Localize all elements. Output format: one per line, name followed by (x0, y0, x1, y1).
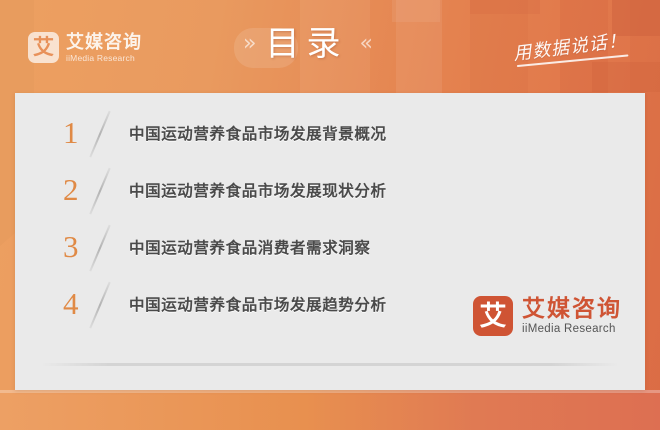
panel-divider (41, 363, 619, 366)
chevron-right-icon: » (243, 33, 253, 55)
footer-logo-name-cn: 艾媒咨询 (522, 297, 622, 320)
item-label: 中国运动营养食品市场发展背景概况 (129, 122, 387, 144)
item-number: 2 (63, 174, 85, 205)
contents-panel: 1 中国运动营养食品市场发展背景概况 2 中国运动营养食品市场发展现状分析 3 … (15, 93, 645, 390)
header-logo: 艾 艾媒咨询 iiMedia Research (28, 32, 142, 63)
item-label: 中国运动营养食品市场发展现状分析 (129, 179, 387, 201)
slash-divider-icon (85, 107, 125, 159)
header-logo-name-cn: 艾媒咨询 (66, 33, 142, 51)
list-item[interactable]: 2 中国运动营养食品市场发展现状分析 (15, 161, 645, 218)
list-item[interactable]: 1 中国运动营养食品市场发展背景概况 (15, 104, 645, 161)
item-number: 3 (63, 231, 85, 262)
footer-logo: 艾 艾媒咨询 iiMedia Research (473, 296, 622, 336)
footer-logo-text: 艾媒咨询 iiMedia Research (522, 297, 622, 336)
tagline: 用数据说话！ (512, 26, 629, 69)
bg-block-1 (392, 0, 440, 22)
item-label: 中国运动营养食品消费者需求洞察 (129, 236, 371, 258)
logo-mark-icon: 艾 (473, 296, 513, 336)
item-number: 1 (63, 117, 85, 148)
list-item[interactable]: 3 中国运动营养食品消费者需求洞察 (15, 218, 645, 275)
footer-logo-name-en: iiMedia Research (522, 324, 622, 336)
slide-title-group: » 目录 « (243, 24, 370, 65)
bg-block-2 (470, 0, 540, 14)
item-label: 中国运动营养食品市场发展趋势分析 (129, 293, 387, 315)
logo-mark-icon: 艾 (28, 32, 59, 63)
header-logo-text: 艾媒咨询 iiMedia Research (66, 33, 142, 63)
slash-divider-icon (85, 278, 125, 330)
header-logo-name-en: iiMedia Research (66, 54, 142, 63)
chevron-left-icon: « (359, 33, 369, 55)
bg-block-4 (592, 62, 660, 92)
bottom-accent-strip (0, 390, 660, 430)
slide-root: 艾 艾媒咨询 iiMedia Research » 目录 « 用数据说话！ 1 … (0, 0, 660, 430)
slash-divider-icon (85, 221, 125, 273)
slash-divider-icon (85, 164, 125, 216)
page-title: 目录 (265, 24, 347, 65)
item-number: 4 (63, 288, 85, 319)
